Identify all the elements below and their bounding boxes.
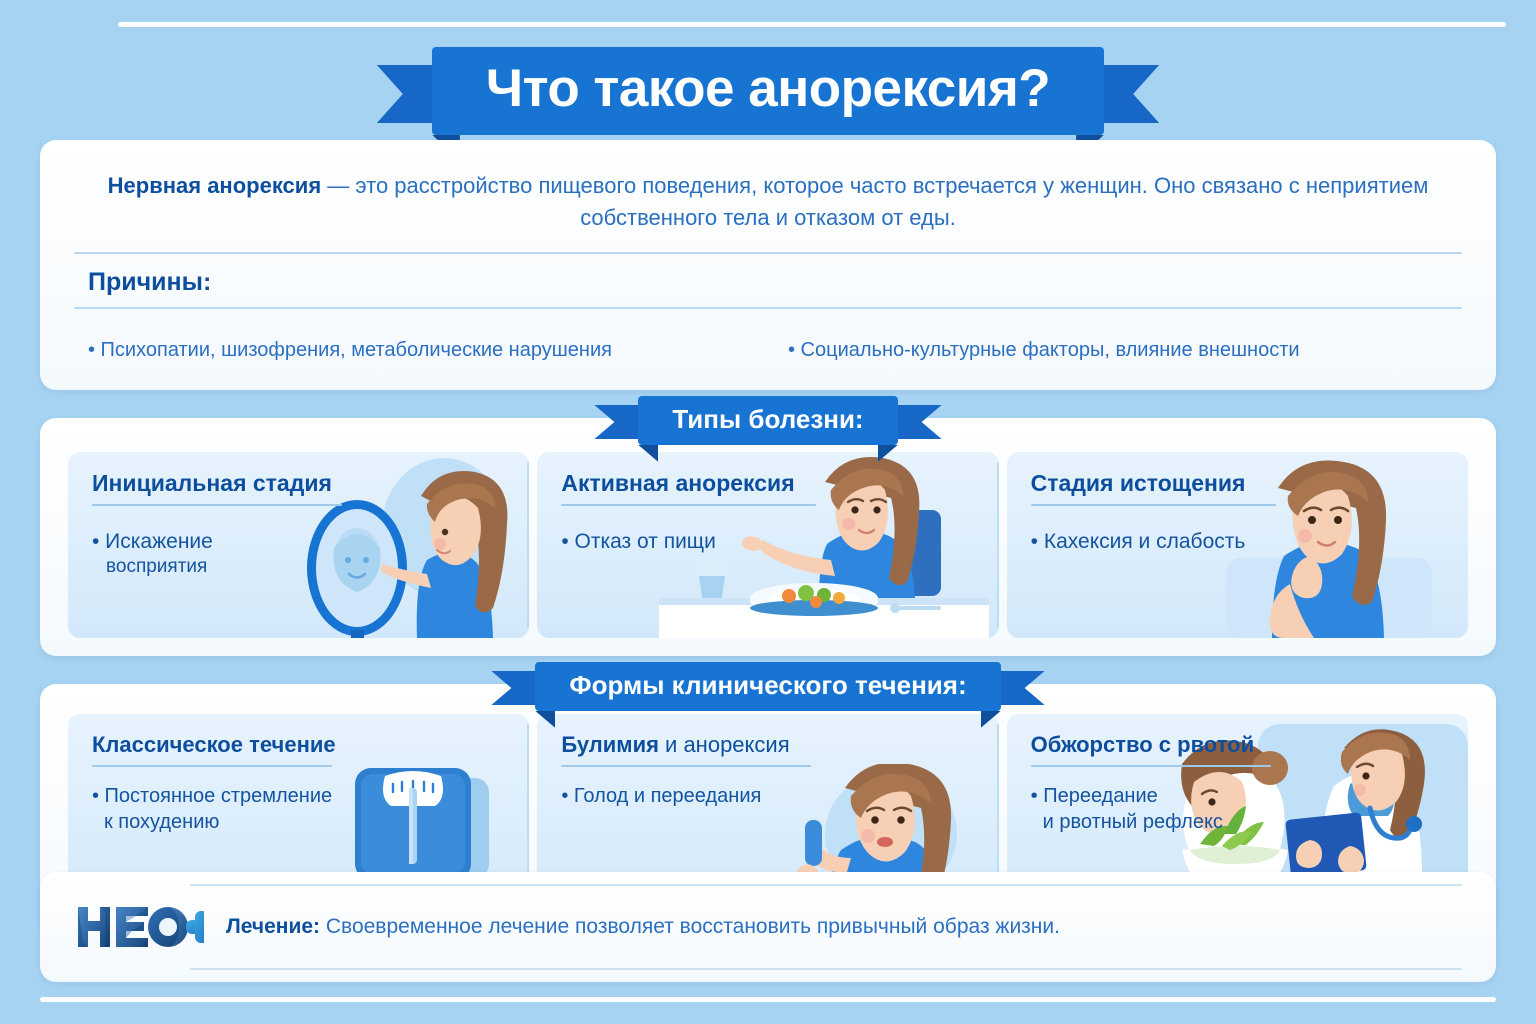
forms-banner-label: Формы клинического течения: [535,662,1000,711]
types-panel: Инициальная стадия • Искажение восприяти… [40,418,1496,656]
card-bullet: • Искажение восприятия [68,506,398,580]
card-title: Обжорство с рвотой [1007,714,1468,758]
card-bullet-main: • Кахексия и слабость [1031,530,1246,553]
card-bullet-main: • Голод и переедания [561,785,761,807]
ribbon-tail-left-icon [377,65,439,123]
types-card-row: Инициальная стадия • Искажение восприяти… [68,452,1468,638]
causes-list: • Психопатии, шизофрения, метаболические… [40,309,1496,362]
card-bullet: • Постоянное стремление к похудению [68,767,398,835]
type-card-exhaustion-stage[interactable]: Стадия истощения • Кахексия и слабость [1007,452,1468,638]
intro-lead: Нервная анорексия [108,173,322,198]
intro-panel: Нервная анорексия — это расстройство пищ… [40,140,1496,390]
footer-divider-top [190,884,1462,886]
card-bullet-main: • Переедание [1031,785,1158,807]
card-bullet-main: • Постоянное стремление [92,785,332,807]
card-title: Инициальная стадия [68,452,529,497]
type-card-initial-stage[interactable]: Инициальная стадия • Искажение восприяти… [68,452,529,638]
ribbon-tail-right-icon [892,405,942,439]
card-bullet: • Отказ от пищи [537,506,867,555]
card-bullet-sub: к похудению [92,809,398,835]
forms-banner: Формы клинического течения: [0,662,1536,711]
card-bullet-main: • Отказ от пищи [561,530,715,553]
card-bullet: • Переедание и рвотный рефлекс [1007,767,1337,835]
ribbon-tail-left-icon [491,671,541,705]
intro-paragraph: Нервная анорексия — это расстройство пищ… [40,140,1496,234]
treatment-text: Своевременное лечение позволяет восстано… [320,915,1060,938]
type-card-active-anorexia[interactable]: Активная анорексия • Отказ от пищи [537,452,998,638]
types-banner-label: Типы болезни: [638,396,897,445]
card-title: Классическое течение [68,714,529,758]
page-title: Что такое анорексия? [432,47,1104,135]
card-bullet-sub: восприятия [92,555,398,580]
footer-panel: Лечение: Своевременное лечение позволяет… [40,872,1496,982]
neo-plus-logo[interactable] [74,901,204,953]
card-bullet-sub: и рвотный рефлекс [1031,809,1337,835]
card-title: Стадия истощения [1007,452,1468,497]
card-title-strong: Булимия [561,732,659,757]
card-bullet: • Голод и переедания [537,767,867,809]
causes-heading: Причины: [40,254,1496,297]
bottom-divider-rule [40,997,1496,1002]
ribbon-tail-left-icon [594,405,644,439]
card-title: Активная анорексия [537,452,998,497]
cause-item-2: • Социально-культурные факторы, влияние … [788,339,1448,362]
card-title: Булимия и анорексия [537,714,998,758]
ribbon-tail-right-icon [995,671,1045,705]
cause-item-1: • Психопатии, шизофрения, метаболические… [88,339,748,362]
intro-body: — это расстройство пищевого поведения, к… [321,173,1428,230]
logo-icon [74,901,204,953]
ribbon-tail-right-icon [1097,65,1159,123]
card-bullet-main: • Искажение [92,530,213,553]
treatment-note: Лечение: Своевременное лечение позволяет… [226,915,1060,939]
top-divider-rule [118,22,1506,27]
treatment-label: Лечение: [226,915,320,938]
card-bullet: • Кахексия и слабость [1007,506,1337,555]
types-banner: Типы болезни: [0,396,1536,445]
footer-divider-bottom [190,968,1462,970]
card-title-light: и анорексия [659,732,790,757]
page-title-banner: Что такое анорексия? [0,47,1536,135]
